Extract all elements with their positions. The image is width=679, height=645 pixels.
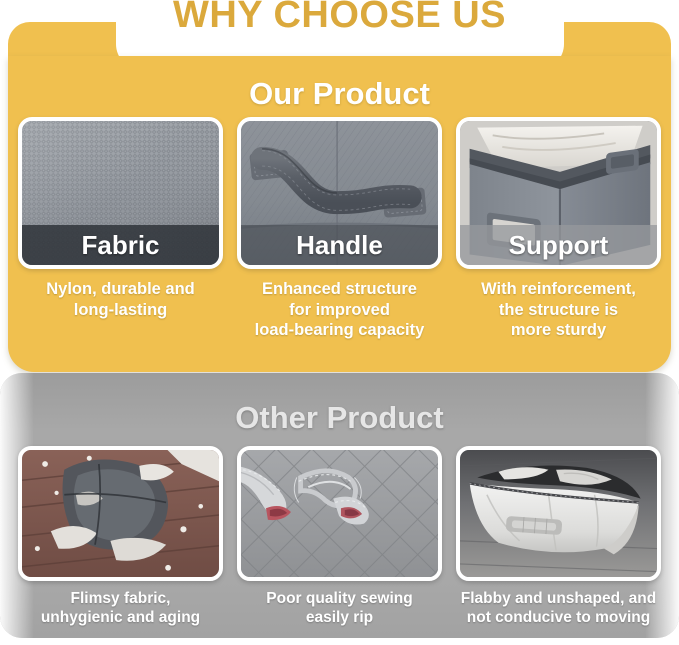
- saggy-unshaped-bag-icon: [460, 450, 657, 577]
- other-product-panel: Other Product: [0, 373, 679, 638]
- handle-photo: Handle: [237, 117, 442, 269]
- our-product-panel: Our Product: [8, 56, 671, 372]
- support-photo: Support: [456, 117, 661, 269]
- torn-collapsed-bin-icon: [22, 450, 219, 577]
- flabby-bag-caption: Flabby and unshaped, and not conducive t…: [456, 589, 661, 628]
- ripped-stitching-icon: [241, 450, 438, 577]
- our-product-card-fabric: Fabric Nylon, durable and long-lasting: [18, 117, 223, 341]
- flabby-bag-photo: [456, 446, 661, 581]
- our-product-card-support: Support With reinforcement, the structur…: [456, 117, 661, 341]
- other-product-heading: Other Product: [0, 400, 679, 436]
- page-title: WHY CHOOSE US: [0, 0, 679, 37]
- flimsy-fabric-photo: [18, 446, 223, 581]
- why-choose-us-infographic: WHY CHOOSE US Our Product: [0, 0, 679, 645]
- poor-sewing-photo: [237, 446, 442, 581]
- fabric-photo: Fabric: [18, 117, 223, 269]
- support-caption: With reinforcement, the structure is mor…: [456, 279, 661, 341]
- other-product-card-row: Flimsy fabric, unhygienic and aging: [18, 446, 661, 628]
- handle-caption: Enhanced structure for improved load-bea…: [237, 279, 442, 341]
- our-product-card-handle: Handle Enhanced structure for improved l…: [237, 117, 442, 341]
- fabric-caption: Nylon, durable and long-lasting: [18, 279, 223, 320]
- our-product-card-row: Fabric Nylon, durable and long-lasting: [18, 117, 661, 341]
- flimsy-fabric-caption: Flimsy fabric, unhygienic and aging: [18, 589, 223, 628]
- our-product-heading: Our Product: [8, 76, 671, 112]
- handle-label: Handle: [241, 225, 438, 265]
- fabric-label: Fabric: [22, 225, 219, 265]
- other-product-card-flabby: Flabby and unshaped, and not conducive t…: [456, 446, 661, 628]
- other-product-card-flimsy: Flimsy fabric, unhygienic and aging: [18, 446, 223, 628]
- other-product-card-sewing: Poor quality sewing easily rip: [237, 446, 442, 628]
- poor-sewing-caption: Poor quality sewing easily rip: [237, 589, 442, 628]
- support-label: Support: [460, 225, 657, 265]
